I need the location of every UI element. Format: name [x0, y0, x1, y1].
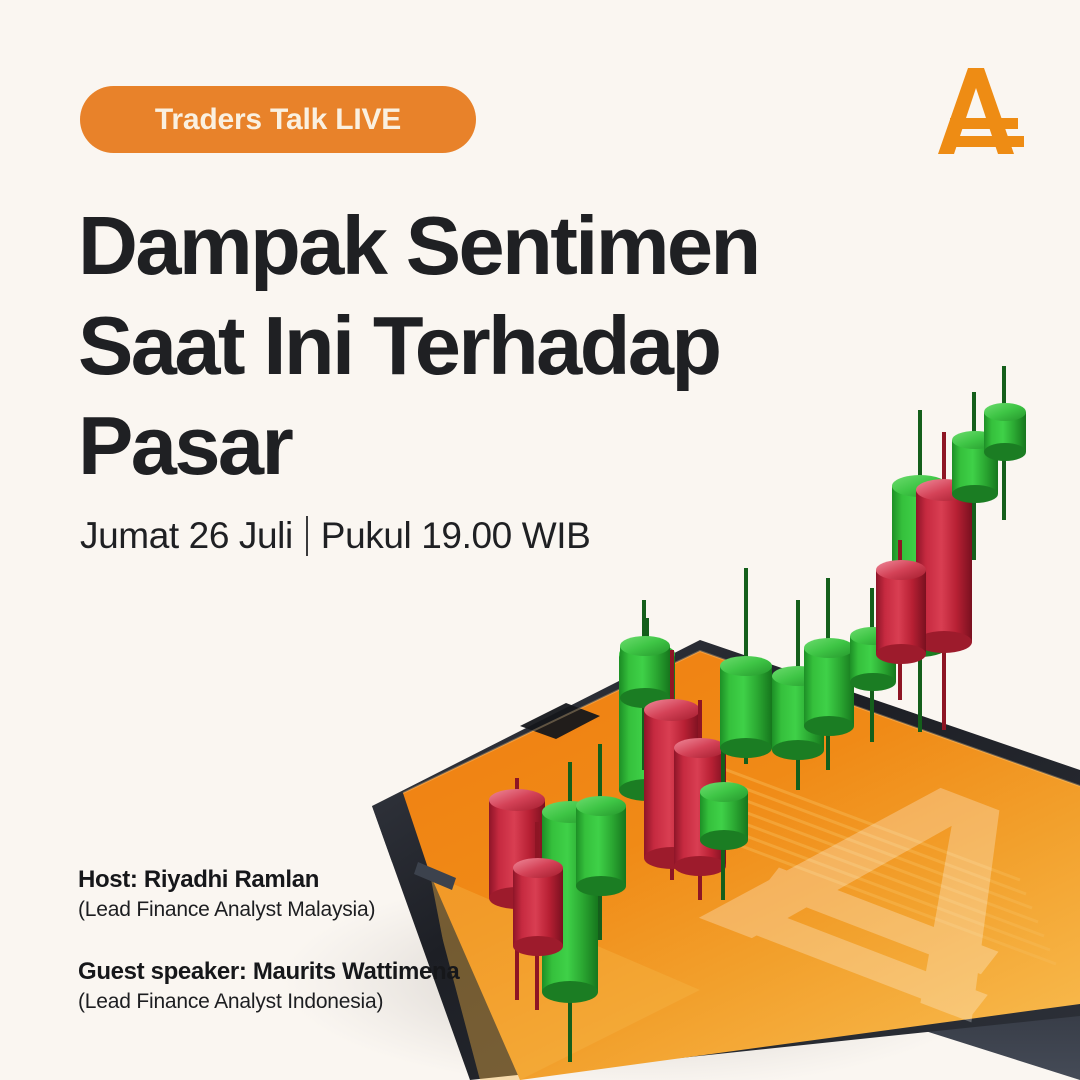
headline-line-2: Saat Ini Terhadap [78, 296, 858, 396]
candle-10-up [720, 568, 772, 764]
guest-role: (Lead Finance Analyst Indonesia) [78, 990, 459, 1014]
credit-host: Host: Riyadhi Ramlan (Lead Finance Analy… [78, 866, 459, 922]
promo-poster: Traders Talk LIVE Dampak Sentimen Saat I… [0, 0, 1080, 1080]
headline-line-3: Pasar [78, 396, 858, 496]
schedule-date: Jumat 26 Juli [80, 515, 293, 557]
page-title: Dampak Sentimen Saat Ini Terhadap Pasar [78, 196, 858, 496]
schedule-line: Jumat 26 Juli Pukul 19.00 WIB [80, 515, 590, 557]
credit-guest: Guest speaker: Maurits Wattimena (Lead F… [78, 958, 459, 1014]
speaker-credits: Host: Riyadhi Ramlan (Lead Finance Analy… [78, 866, 459, 1014]
schedule-separator [306, 516, 308, 556]
headline-line-1: Dampak Sentimen [78, 196, 858, 296]
guest-name: Guest speaker: Maurits Wattimena [78, 958, 459, 986]
host-name: Host: Riyadhi Ramlan [78, 866, 459, 894]
schedule-time: Pukul 19.00 WIB [321, 515, 591, 557]
host-role: (Lead Finance Analyst Malaysia) [78, 898, 459, 922]
